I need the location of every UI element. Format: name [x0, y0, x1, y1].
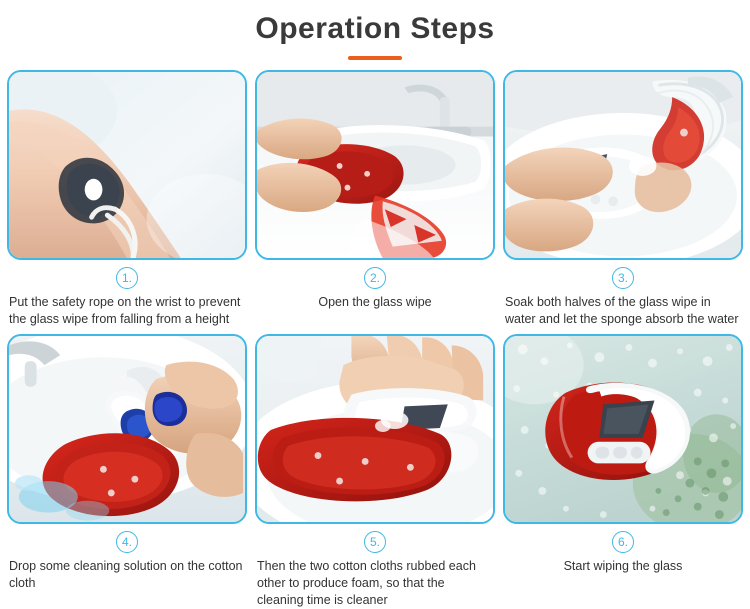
step-caption-4: Drop some cleaning solution on the cotto… [7, 558, 247, 592]
step-badge-3: 3. [612, 267, 634, 289]
photo-soak-halves-in-water [503, 70, 743, 260]
title-underline [348, 56, 402, 60]
step-cell-6: 6. Start wiping the glass [502, 334, 745, 609]
step-badge-5: 5. [364, 531, 386, 553]
step-cell-1: 1. Put the safety rope on the wrist to p… [6, 70, 249, 328]
step-caption-6: Start wiping the glass [503, 558, 743, 575]
page-title: Operation Steps [0, 0, 750, 46]
step-caption-3: Soak both halves of the glass wipe in wa… [503, 294, 743, 328]
photo-open-the-glass-wipe [255, 70, 495, 260]
steps-grid: 1. Put the safety rope on the wrist to p… [0, 70, 750, 609]
photo-start-wiping-the-glass [503, 334, 743, 524]
page-root: Operation Steps [0, 0, 750, 601]
step-badge-4: 4. [116, 531, 138, 553]
step-cell-3: 3. Soak both halves of the glass wipe in… [502, 70, 745, 328]
step-badge-2: 2. [364, 267, 386, 289]
step-caption-5: Then the two cotton cloths rubbed each o… [255, 558, 495, 609]
photo-drop-cleaning-solution [7, 334, 247, 524]
step-cell-5: 5. Then the two cotton cloths rubbed eac… [254, 334, 497, 609]
step-badge-6: 6. [612, 531, 634, 553]
step-badge-1: 1. [116, 267, 138, 289]
photo-safety-rope-on-wrist [7, 70, 247, 260]
step-caption-2: Open the glass wipe [255, 294, 495, 311]
step-cell-4: 4. Drop some cleaning solution on the co… [6, 334, 249, 609]
step-caption-1: Put the safety rope on the wrist to prev… [7, 294, 247, 328]
step-cell-2: 2. Open the glass wipe [254, 70, 497, 328]
photo-rub-cloths-to-produce-foam [255, 334, 495, 524]
